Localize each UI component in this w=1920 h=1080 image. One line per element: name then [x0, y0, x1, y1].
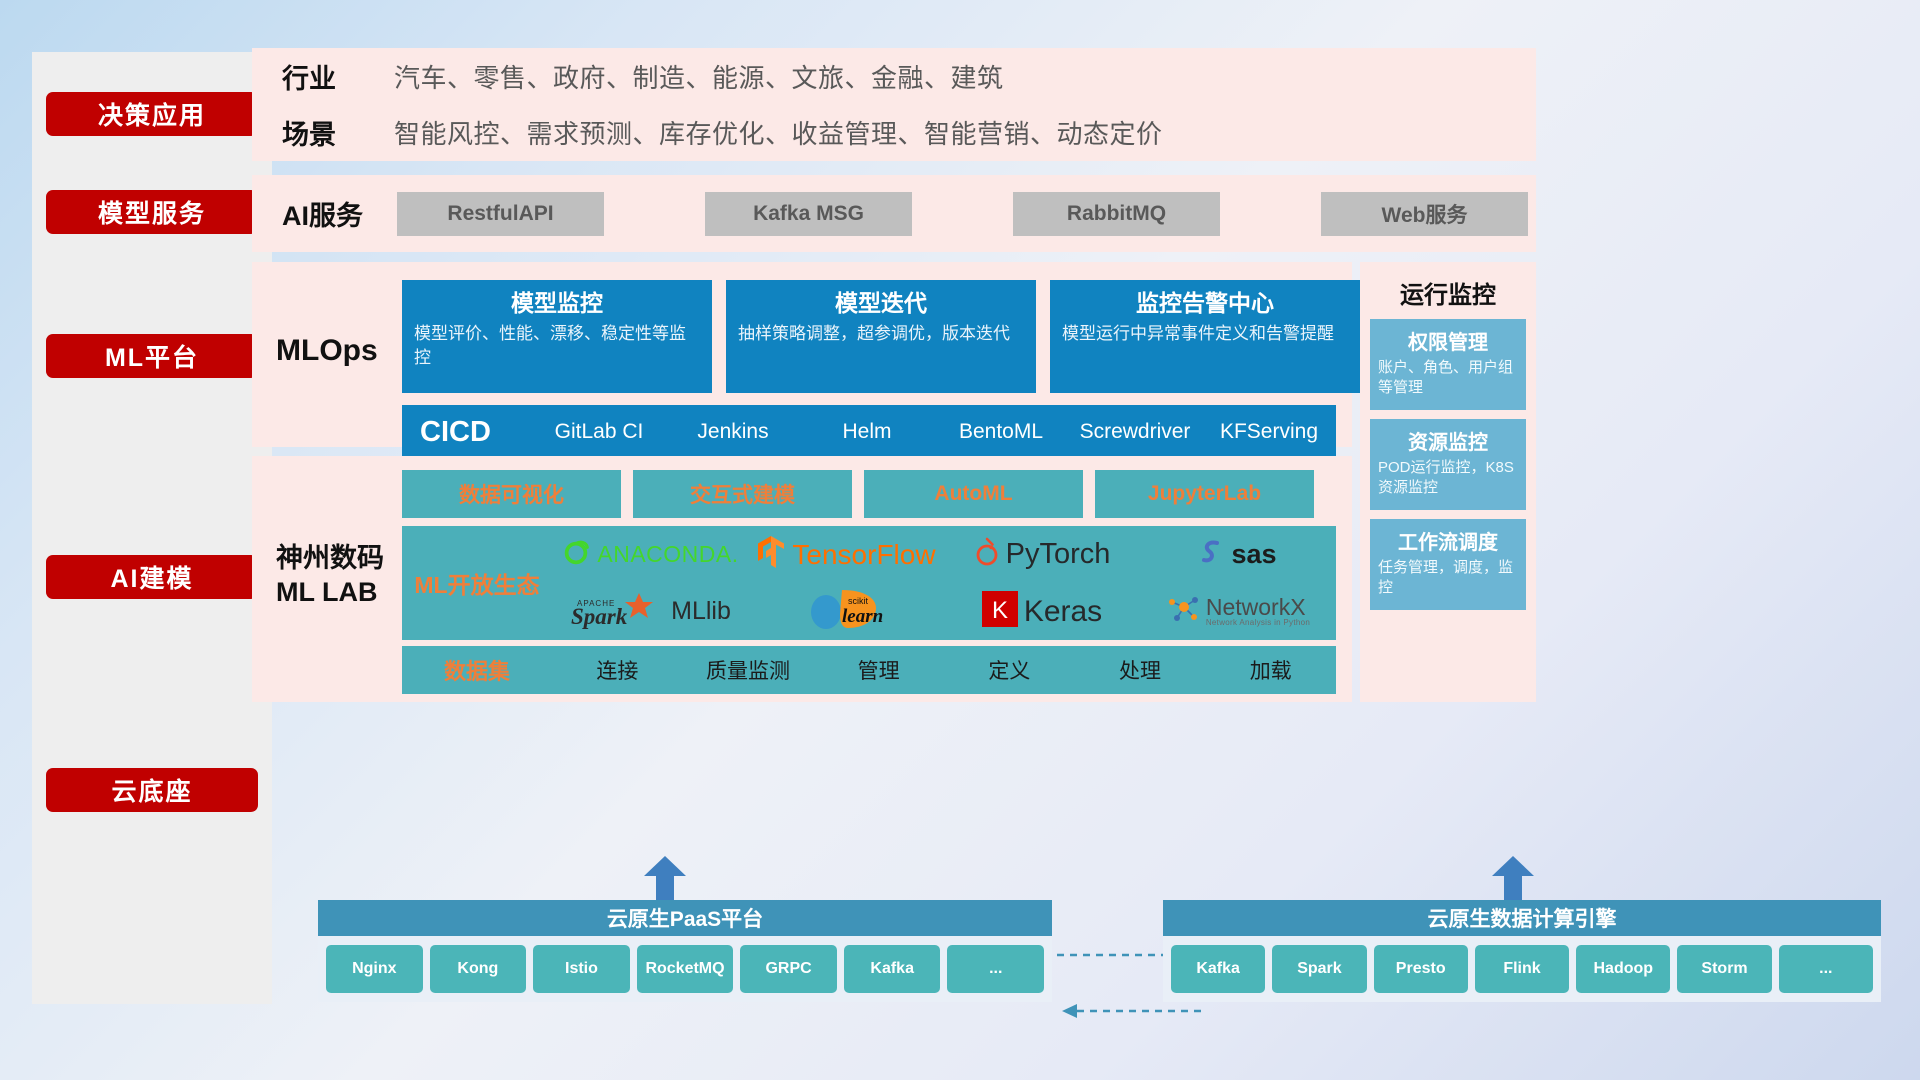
modeling-tool-list: 数据可视化 交互式建模 AutoML JupyterLab — [402, 470, 1314, 518]
arrow-up-paas — [640, 856, 690, 902]
cloud-chip-hadoop[interactable]: Hadoop — [1576, 945, 1670, 993]
dataset-item-load[interactable]: 加载 — [1205, 655, 1336, 685]
logo-networkx: NetworkX Network Analysis in Python — [1166, 593, 1310, 630]
cloud-compute-column: 云原生数据计算引擎 Kafka Spark Presto Flink Hadoo… — [1163, 900, 1881, 1002]
architecture-diagram: 决策应用 模型服务 ML平台 AI建模 云底座 行业 汽车、零售、政府、制造、能… — [0, 0, 1920, 1080]
cloud-chip-flink[interactable]: Flink — [1475, 945, 1569, 993]
cloud-chip-kafka[interactable]: Kafka — [844, 945, 941, 993]
cicd-item-kfserving[interactable]: KFServing — [1202, 420, 1336, 444]
runtime-monitor-panel: 运行监控 权限管理 账户、角色、用户组等管理 资源监控 POD运行监控，K8S资… — [1360, 262, 1536, 702]
monitor-card-resource[interactable]: 资源监控 POD运行监控，K8S资源监控 — [1370, 419, 1526, 510]
networkx-logo — [1166, 593, 1200, 630]
logo-scikit-learn: scikit learn — [802, 588, 890, 635]
apache-spark-logo: APACHE Spark — [569, 589, 665, 634]
logo-keras: K Keras — [982, 591, 1102, 632]
pytorch-logo — [974, 536, 1000, 573]
logo-label: PyTorch — [1006, 538, 1111, 571]
decision-apps-band: 行业 汽车、零售、政府、制造、能源、文旅、金融、建筑 场景 智能风控、需求预测、… — [252, 48, 1536, 161]
logo-label: TensorFlow — [792, 539, 935, 571]
mlops-label: MLOps — [276, 334, 378, 368]
svg-text:K: K — [992, 597, 1008, 624]
cloud-chip-presto[interactable]: Presto — [1374, 945, 1468, 993]
logo-pytorch: PyTorch — [974, 536, 1111, 573]
cloud-chip-more[interactable]: ... — [947, 945, 1044, 993]
tool-chip-automl[interactable]: AutoML — [864, 470, 1083, 518]
cicd-title: CICD — [420, 416, 532, 449]
ml-lab-label: 神州数码 ML LAB — [276, 542, 384, 610]
anaconda-logo — [561, 537, 591, 572]
dataset-bar: 数据集 连接 质量监测 管理 定义 处理 加载 — [402, 646, 1336, 694]
scikit-learn-logo: scikit learn — [802, 588, 890, 635]
networkx-tagline: Network Analysis in Python — [1206, 619, 1310, 627]
ai-modeling-band: 神州数码 ML LAB 数据可视化 交互式建模 AutoML JupyterLa… — [252, 456, 1352, 702]
cloud-chip-spark[interactable]: Spark — [1272, 945, 1366, 993]
ai-service-label: AI服务 — [282, 194, 397, 233]
logo-label: NetworkX — [1206, 596, 1310, 619]
tool-chip-interactive-modeling[interactable]: 交互式建模 — [633, 470, 852, 518]
svg-text:Spark: Spark — [571, 604, 628, 629]
ai-service-chip-list: RestfulAPI Kafka MSG RabbitMQ Web服务 — [397, 192, 1536, 236]
card-desc: 模型运行中异常事件定义和告警提醒 — [1062, 322, 1348, 346]
card-desc: 模型评价、性能、漂移、稳定性等监控 — [414, 322, 700, 370]
card-title: 模型监控 — [414, 288, 700, 319]
cloud-chip-nginx[interactable]: Nginx — [326, 945, 423, 993]
dataset-item-quality[interactable]: 质量监测 — [683, 655, 814, 685]
svg-text:learn: learn — [842, 606, 883, 627]
sas-logo — [1199, 537, 1225, 572]
logo-label: ANACONDA. — [597, 541, 738, 568]
logo-label: Keras — [1024, 595, 1102, 629]
logo-label: sas — [1231, 539, 1276, 570]
dataset-item-connect[interactable]: 连接 — [552, 655, 683, 685]
cicd-bar: CICD GitLab CI Jenkins Helm BentoML Scre… — [402, 405, 1336, 460]
tier-chip-model-service[interactable]: 模型服务 — [46, 190, 258, 234]
logo-tensorflow: TensorFlow — [756, 535, 935, 574]
logo-label: MLlib — [671, 597, 731, 626]
scenario-label: 场景 — [282, 113, 394, 152]
card-desc: 账户、角色、用户组等管理 — [1378, 358, 1518, 399]
card-title: 资源监控 — [1378, 426, 1518, 455]
logo-anaconda: ANACONDA. — [561, 537, 738, 572]
ml-lab-label-line1: 神州数码 — [276, 542, 384, 576]
card-title: 监控告警中心 — [1062, 288, 1348, 319]
industry-label: 行业 — [282, 57, 394, 96]
card-title: 权限管理 — [1378, 326, 1518, 355]
industry-value: 汽车、零售、政府、制造、能源、文旅、金融、建筑 — [394, 58, 1004, 95]
tool-chip-jupyterlab[interactable]: JupyterLab — [1095, 470, 1314, 518]
ml-ecosystem-logo-grid: ANACONDA. TensorFlow PyTorch — [552, 526, 1336, 640]
dataset-title: 数据集 — [402, 654, 552, 686]
ml-lab-label-line2: ML LAB — [276, 576, 384, 610]
cloud-paas-chip-list: Nginx Kong Istio RocketMQ GRPC Kafka ... — [318, 936, 1052, 1002]
runtime-monitor-title: 运行监控 — [1360, 262, 1536, 310]
cloud-compute-title: 云原生数据计算引擎 — [1163, 900, 1881, 936]
tier-chip-cloud-base[interactable]: 云底座 — [46, 768, 258, 812]
cloud-paas-title: 云原生PaaS平台 — [318, 900, 1052, 936]
card-title: 工作流调度 — [1378, 526, 1518, 555]
ai-service-chip-rabbitmq[interactable]: RabbitMQ — [1013, 192, 1220, 236]
ai-service-chip-web[interactable]: Web服务 — [1321, 192, 1528, 236]
mlops-card-alert-center[interactable]: 监控告警中心 模型运行中异常事件定义和告警提醒 — [1050, 280, 1360, 393]
tier-chip-ai-modeling[interactable]: AI建模 — [46, 555, 258, 599]
tier-chip-decision-apps[interactable]: 决策应用 — [46, 92, 258, 136]
svg-text:scikit: scikit — [848, 596, 868, 606]
mlops-card-list: 模型监控 模型评价、性能、漂移、稳定性等监控 模型迭代 抽样策略调整，超参调优，… — [402, 280, 1360, 393]
dataset-item-manage[interactable]: 管理 — [813, 655, 944, 685]
dataset-item-define[interactable]: 定义 — [944, 655, 1075, 685]
mlops-card-model-iteration[interactable]: 模型迭代 抽样策略调整，超参调优，版本迭代 — [726, 280, 1036, 393]
ai-service-chip-kafka-msg[interactable]: Kafka MSG — [705, 192, 912, 236]
keras-logo: K — [982, 591, 1018, 632]
card-desc: POD运行监控，K8S资源监控 — [1378, 458, 1518, 499]
cicd-item-jenkins[interactable]: Jenkins — [666, 420, 800, 444]
mlops-card-model-monitoring[interactable]: 模型监控 模型评价、性能、漂移、稳定性等监控 — [402, 280, 712, 393]
monitor-card-permission[interactable]: 权限管理 账户、角色、用户组等管理 — [1370, 319, 1526, 410]
cicd-item-screwdriver[interactable]: Screwdriver — [1068, 420, 1202, 444]
ai-service-band: AI服务 RestfulAPI Kafka MSG RabbitMQ Web服务 — [252, 175, 1536, 252]
cloud-chip-grpc[interactable]: GRPC — [740, 945, 837, 993]
mlops-band: MLOps 模型监控 模型评价、性能、漂移、稳定性等监控 模型迭代 抽样策略调整… — [252, 262, 1352, 447]
card-desc: 任务管理，调度，监控 — [1378, 558, 1518, 599]
arrow-left-dashed — [1055, 1000, 1205, 1022]
cloud-chip-more-compute[interactable]: ... — [1779, 945, 1873, 993]
scenario-value: 智能风控、需求预测、库存优化、收益管理、智能营销、动态定价 — [394, 114, 1163, 151]
cicd-item-list: GitLab CI Jenkins Helm BentoML Screwdriv… — [532, 420, 1336, 444]
monitor-card-workflow[interactable]: 工作流调度 任务管理，调度，监控 — [1370, 519, 1526, 610]
dataset-item-process[interactable]: 处理 — [1075, 655, 1206, 685]
industry-row: 行业 汽车、零售、政府、制造、能源、文旅、金融、建筑 — [252, 48, 1536, 104]
logo-spark-mllib: APACHE Spark MLlib — [569, 589, 731, 634]
ml-ecosystem-label: ML开放生态 — [402, 566, 552, 600]
cloud-compute-chip-list: Kafka Spark Presto Flink Hadoop Storm ..… — [1163, 936, 1881, 1002]
scenario-row: 场景 智能风控、需求预测、库存优化、收益管理、智能营销、动态定价 — [252, 104, 1536, 160]
cicd-item-gitlab-ci[interactable]: GitLab CI — [532, 420, 666, 444]
cloud-chip-istio[interactable]: Istio — [533, 945, 630, 993]
tier-chip-ml-platform[interactable]: ML平台 — [46, 334, 258, 378]
cloud-chip-kong[interactable]: Kong — [430, 945, 527, 993]
cicd-item-bentoml[interactable]: BentoML — [934, 420, 1068, 444]
ml-ecosystem-box: ML开放生态 ANACONDA. TensorFlow — [402, 526, 1336, 640]
ai-service-chip-restfulapi[interactable]: RestfulAPI — [397, 192, 604, 236]
cloud-chip-kafka-compute[interactable]: Kafka — [1171, 945, 1265, 993]
cloud-chip-storm[interactable]: Storm — [1677, 945, 1771, 993]
cloud-chip-rocketmq[interactable]: RocketMQ — [637, 945, 734, 993]
arrow-up-compute — [1488, 856, 1538, 902]
tensorflow-logo — [756, 535, 786, 574]
tool-chip-data-visualization[interactable]: 数据可视化 — [402, 470, 621, 518]
card-desc: 抽样策略调整，超参调优，版本迭代 — [738, 322, 1024, 346]
dataset-item-list: 连接 质量监测 管理 定义 处理 加载 — [552, 655, 1336, 685]
cloud-paas-column: 云原生PaaS平台 Nginx Kong Istio RocketMQ GRPC… — [318, 900, 1052, 1002]
card-title: 模型迭代 — [738, 288, 1024, 319]
cicd-item-helm[interactable]: Helm — [800, 420, 934, 444]
logo-sas: sas — [1199, 537, 1276, 572]
